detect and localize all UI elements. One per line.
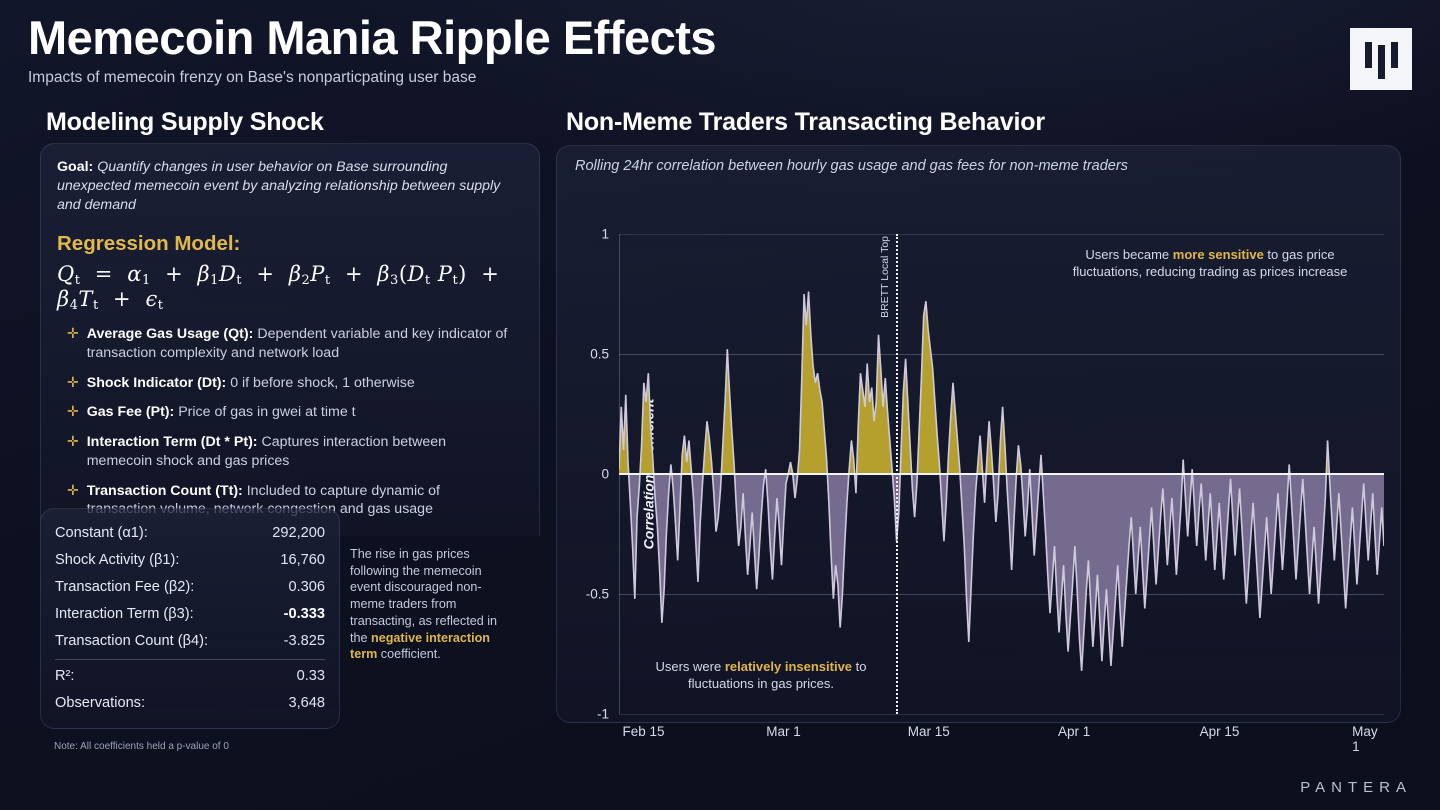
y-axis-tick: 1 [601, 227, 609, 242]
goal-body: Quantify changes in user behavior on Bas… [57, 159, 500, 213]
stat-row: Constant (α1):292,200 [55, 519, 325, 546]
plus-icon: ✛ [67, 374, 79, 393]
chart-subtitle: Rolling 24hr correlation between hourly … [575, 158, 1128, 174]
regression-model-title: Regression Model: [57, 232, 523, 256]
variable-bullet: ✛Shock Indicator (Dt): 0 if before shock… [67, 374, 523, 393]
annotation-bottom-pre: Users were [655, 659, 724, 674]
goal-label: Goal: [57, 159, 93, 175]
variable-desc: 0 if before shock, 1 otherwise [226, 375, 414, 391]
stats-divider [55, 659, 325, 660]
stat-label: Interaction Term (β3): [55, 606, 194, 622]
regression-equation: Qt = α1 + β1Dt + β2Pt + β3(Dt Pt) + β4Tt… [57, 262, 523, 314]
x-axis-tick: Mar 15 [908, 724, 950, 739]
variable-bullet-text: Interaction Term (Dt * Pt): Captures int… [87, 433, 511, 470]
x-axis-tick: Mar 1 [766, 724, 801, 739]
stat-row: Shock Activity (β1):16,760 [55, 546, 325, 573]
plus-icon: ✛ [67, 433, 79, 470]
x-axis-tick: Apr 15 [1200, 724, 1240, 739]
stat-label: Constant (α1): [55, 525, 148, 541]
stat-value: 16,760 [280, 552, 325, 568]
variable-term: Shock Indicator (Dt): [87, 375, 227, 391]
stat-value: 3,648 [288, 695, 325, 711]
negative-area [619, 292, 1384, 671]
stat-label: Transaction Fee (β2): [55, 579, 194, 595]
annotation-top-highlight: more sensitive [1173, 247, 1264, 262]
stat-row: R²:0.33 [55, 662, 325, 689]
y-axis-tick: -1 [597, 707, 609, 722]
x-axis-tick: Apr 1 [1058, 724, 1090, 739]
pantera-logo-icon [1350, 28, 1412, 90]
stat-value: 0.33 [297, 668, 325, 684]
slide-root: Memecoin Mania Ripple Effects Impacts of… [0, 0, 1440, 810]
variable-term: Transaction Count (Tt): [87, 483, 243, 499]
variable-bullet-text: Average Gas Usage (Qt): Dependent variab… [87, 325, 511, 362]
coefficients-card: Constant (α1):292,200Shock Activity (β1)… [40, 508, 340, 729]
interaction-sidenote: The rise in gas prices following the mem… [350, 546, 510, 663]
event-marker-label: BRETT Local Top [879, 236, 891, 318]
chart-plot-area: Correlation Coefficient BRETT Local Top [619, 234, 1384, 714]
variable-term: Interaction Term (Dt * Pt): [87, 434, 258, 450]
event-marker-line: BRETT Local Top [896, 234, 898, 714]
stat-row: Observations:3,648 [55, 689, 325, 716]
x-axis-tick: May 1 [1352, 724, 1378, 754]
stat-label: R²: [55, 668, 74, 684]
plus-icon: ✛ [67, 325, 79, 362]
stat-value: 292,200 [272, 525, 325, 541]
annotation-top-pre: Users became [1085, 247, 1172, 262]
variable-term: Gas Fee (Pt): [87, 404, 175, 420]
y-axis-tick: 0.5 [590, 347, 609, 362]
goal-text: Goal: Quantify changes in user behavior … [57, 158, 523, 216]
section-title-modeling: Modeling Supply Shock [40, 108, 540, 137]
goal-card: Goal: Quantify changes in user behavior … [40, 143, 540, 536]
y-axis-tick: -0.5 [586, 587, 609, 602]
annotation-bottom-highlight: relatively insensitive [725, 659, 852, 674]
page-subtitle: Impacts of memecoin frenzy on Base's non… [28, 69, 716, 87]
variable-bullet: ✛Interaction Term (Dt * Pt): Captures in… [67, 433, 523, 470]
annotation-bottom: Users were relatively insensitive to flu… [627, 658, 895, 692]
stat-value: -0.333 [284, 606, 325, 622]
variable-bullet-list: ✛Average Gas Usage (Qt): Dependent varia… [67, 325, 523, 519]
stat-row: Transaction Fee (β2):0.306 [55, 573, 325, 600]
page-title: Memecoin Mania Ripple Effects [28, 14, 716, 63]
annotation-top: Users became more sensitive to gas price… [1054, 246, 1366, 280]
stat-label: Transaction Count (β4): [55, 633, 208, 649]
right-panel: Non-Meme Traders Transacting Behavior Ro… [556, 108, 1401, 723]
variable-desc: Price of gas in gwei at time t [174, 404, 355, 420]
stat-label: Shock Activity (β1): [55, 552, 179, 568]
stat-value: 0.306 [288, 579, 325, 595]
section-title-chart: Non-Meme Traders Transacting Behavior [556, 108, 1401, 137]
stat-row: Transaction Count (β4):-3.825 [55, 627, 325, 654]
x-axis-tick: Feb 15 [622, 724, 664, 739]
header: Memecoin Mania Ripple Effects Impacts of… [28, 14, 716, 87]
variable-term: Average Gas Usage (Qt): [87, 326, 254, 342]
footer-brand: PANTERA [1300, 779, 1412, 796]
variable-bullet: ✛Average Gas Usage (Qt): Dependent varia… [67, 325, 523, 362]
stat-value: -3.825 [284, 633, 325, 649]
stat-label: Observations: [55, 695, 145, 711]
grid-line [619, 714, 1384, 715]
plus-icon: ✛ [67, 403, 79, 422]
stat-row: Interaction Term (β3):-0.333 [55, 600, 325, 627]
left-panel: Modeling Supply Shock Goal: Quantify cha… [40, 108, 540, 536]
stats-note: Note: All coefficients held a p-value of… [54, 741, 340, 752]
variable-bullet-text: Shock Indicator (Dt): 0 if before shock,… [87, 374, 415, 393]
y-axis-tick: 0 [601, 467, 609, 482]
zero-baseline [619, 473, 1384, 475]
chart-card: Rolling 24hr correlation between hourly … [556, 145, 1401, 723]
coefficients-panel: Constant (α1):292,200Shock Activity (β1)… [40, 508, 340, 752]
sidenote-post: coefficient. [377, 647, 440, 661]
variable-bullet-text: Gas Fee (Pt): Price of gas in gwei at ti… [87, 403, 356, 422]
variable-bullet: ✛Gas Fee (Pt): Price of gas in gwei at t… [67, 403, 523, 422]
